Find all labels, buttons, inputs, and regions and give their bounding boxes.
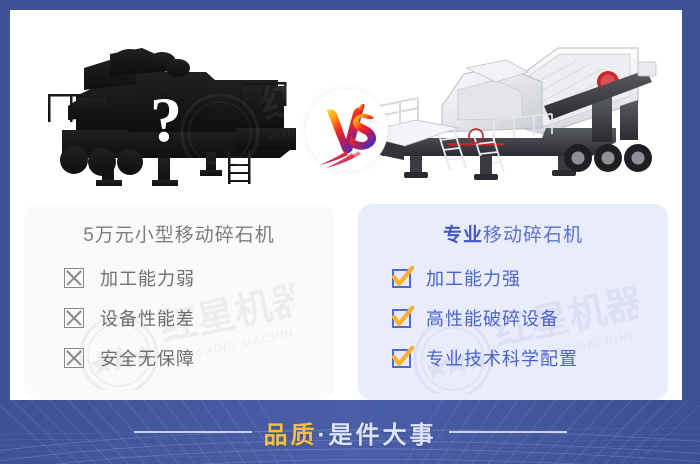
list-item: 设备性能差 [24, 298, 334, 338]
poster-inner-panel: ? [10, 10, 682, 400]
banner-content: 品质·是件大事 [0, 400, 700, 464]
feature-label: 加工能力弱 [100, 265, 195, 291]
vs-badge [306, 89, 388, 171]
comparison-cards: 5万元小型移动碎石机 加工能力弱 设备性能差 安全无保障 [10, 196, 682, 400]
list-item: 高性能破碎设备 [358, 298, 668, 338]
card-right-feature-list: 加工能力强 高性能破碎设备 专业技术科学 [358, 258, 668, 378]
poster-root: ? [0, 0, 700, 464]
banner-slogan-rest: 是件大事 [329, 422, 437, 449]
dark-crusher-silhouette-icon [10, 10, 346, 196]
banner-rule-left [134, 431, 252, 433]
list-item: 专业技术科学配置 [358, 338, 668, 378]
feature-label: 加工能力强 [426, 265, 521, 291]
feature-label: 高性能破碎设备 [426, 305, 559, 331]
banner-slogan-highlight: 品质 [264, 422, 318, 449]
feature-label: 专业技术科学配置 [426, 345, 578, 371]
check-mark-icon [390, 346, 414, 370]
x-mark-icon [64, 348, 84, 368]
hero-left-image: ? [10, 10, 346, 196]
list-item: 安全无保障 [24, 338, 334, 378]
card-left-title: 5万元小型移动碎石机 [24, 220, 334, 247]
banner-rule-right [449, 431, 567, 433]
card-right-title: 专业移动碎石机 [358, 220, 668, 247]
hero-right-image [346, 10, 682, 196]
white-crusher-illustration-icon [346, 10, 682, 196]
banner-slogan: 品质·是件大事 [264, 415, 437, 450]
list-item: 加工能力强 [358, 258, 668, 298]
feature-label: 设备性能差 [100, 305, 195, 331]
check-mark-icon [390, 266, 414, 290]
x-mark-icon [64, 308, 84, 328]
bottom-banner: 品质·是件大事 [0, 400, 700, 464]
x-mark-icon [64, 268, 84, 288]
vs-logo-icon [306, 89, 388, 171]
feature-label: 安全无保障 [100, 345, 195, 371]
list-item: 加工能力弱 [24, 258, 334, 298]
card-right-title-bold: 专业 [443, 225, 483, 246]
card-left-feature-list: 加工能力弱 设备性能差 安全无保障 [24, 258, 334, 378]
check-mark-icon [390, 306, 414, 330]
card-budget-crusher: 5万元小型移动碎石机 加工能力弱 设备性能差 安全无保障 [24, 204, 334, 400]
hero-section: ? [10, 10, 682, 196]
banner-slogan-separator: · [318, 422, 329, 449]
card-right-title-rest: 移动碎石机 [483, 225, 583, 246]
card-professional-crusher: 专业移动碎石机 加工能力强 高性能破碎设备 [358, 204, 668, 400]
